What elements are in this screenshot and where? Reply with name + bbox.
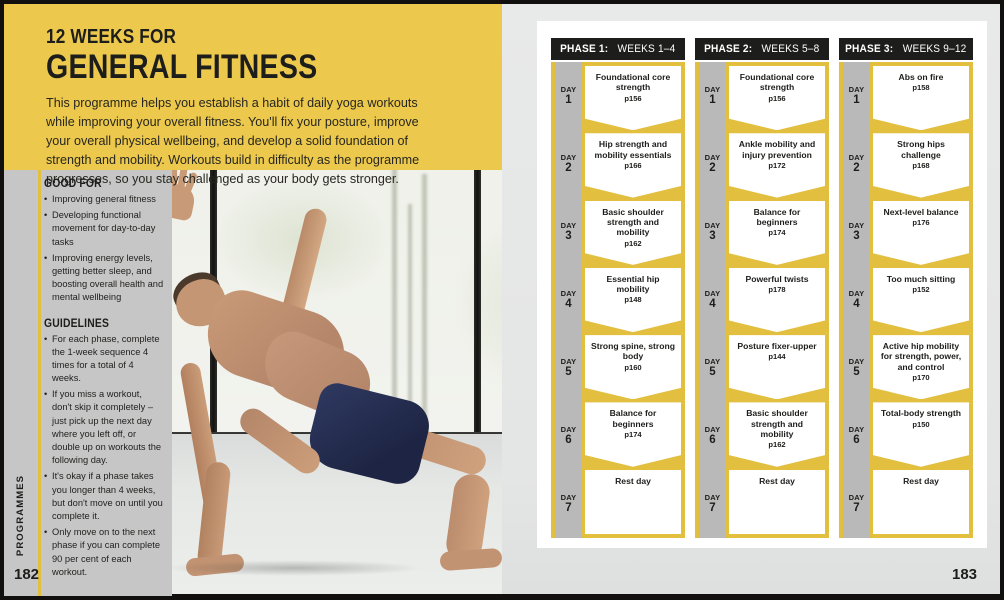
guideline-item: For each phase, complete the 1-week sequ… <box>44 333 164 386</box>
page-number-left: 182 <box>14 566 39 583</box>
workout-page-ref[interactable]: p174 <box>768 228 785 237</box>
workout-title: Essential hip mobility <box>590 274 676 295</box>
guidelines-heading: GUIDELINES <box>44 318 152 330</box>
workout-card[interactable]: Basic shoulder strength and mobilityp162 <box>729 402 825 466</box>
day-word: DAY <box>561 86 577 94</box>
day-cell: DAY6 <box>555 402 582 470</box>
day-cell: DAY2 <box>699 130 726 198</box>
eyebrow-text: 12 WEEKS FOR <box>46 26 409 49</box>
day-word: DAY <box>705 426 721 434</box>
day-cell: DAY5 <box>699 334 726 402</box>
day-word: DAY <box>705 494 721 502</box>
day-number: 4 <box>853 299 859 311</box>
day-number: 4 <box>565 299 571 311</box>
day-number: 5 <box>853 367 859 379</box>
workout-page-ref[interactable]: p144 <box>768 352 785 361</box>
day-number: 1 <box>709 95 715 107</box>
section-tab-text: PROGRAMMES <box>16 474 27 555</box>
day-number: 3 <box>853 231 859 243</box>
workout-page-ref[interactable]: p168 <box>912 161 929 170</box>
workout-title: Abs on fire <box>899 72 944 82</box>
good-for-item: Developing functional movement for day-t… <box>44 209 164 249</box>
phase-label: PHASE 2: <box>704 43 752 55</box>
phase-week-grid: DAY1DAY2DAY3DAY4DAY5DAY6DAY7Foundational… <box>551 62 685 538</box>
workout-title: Powerful twists <box>745 274 808 284</box>
day-word: DAY <box>561 154 577 162</box>
workout-page-ref[interactable]: p156 <box>624 94 641 103</box>
day-number-column: DAY1DAY2DAY3DAY4DAY5DAY6DAY7 <box>551 62 582 538</box>
intro-block: 12 WEEKS FOR GENERAL FITNESS This progra… <box>4 4 502 170</box>
day-number-column: DAY1DAY2DAY3DAY4DAY5DAY6DAY7 <box>839 62 870 538</box>
book-spread: 12 WEEKS FOR GENERAL FITNESS This progra… <box>0 0 1004 600</box>
phase-label: PHASE 3: <box>845 43 893 55</box>
day-cell: DAY3 <box>555 198 582 266</box>
day-cell: DAY5 <box>555 334 582 402</box>
workout-page-ref[interactable]: p166 <box>624 161 641 170</box>
day-word: DAY <box>849 358 865 366</box>
workout-card[interactable]: Balance for beginnersp174 <box>585 402 681 466</box>
workout-card-column: Foundational core strengthp156Ankle mobi… <box>726 62 829 538</box>
guideline-item: Only move on to the next phase if you ca… <box>44 526 164 579</box>
workout-title: Rest day <box>615 476 651 486</box>
day-number: 7 <box>565 503 571 515</box>
workout-card-column: Foundational core strengthp156Hip streng… <box>582 62 685 538</box>
workout-card[interactable]: Strong hips challengep168 <box>873 133 969 197</box>
day-word: DAY <box>849 222 865 230</box>
sidebar-content: GOOD FOR Improving general fitness Devel… <box>44 178 164 579</box>
workout-card[interactable]: Hip strength and mobility essentialsp166 <box>585 133 681 197</box>
day-word: DAY <box>705 86 721 94</box>
day-number: 4 <box>709 299 715 311</box>
day-cell: DAY4 <box>555 266 582 334</box>
workout-title: Strong hips challenge <box>878 139 964 160</box>
day-number: 6 <box>565 435 571 447</box>
day-cell: DAY6 <box>699 402 726 470</box>
phase-weeks-label: WEEKS 1–4 <box>617 43 675 55</box>
workout-page-ref[interactable]: p148 <box>624 295 641 304</box>
phase-label: PHASE 1: <box>560 43 608 55</box>
day-word: DAY <box>561 290 577 298</box>
good-for-heading: GOOD FOR <box>44 178 152 190</box>
day-number-column: DAY1DAY2DAY3DAY4DAY5DAY6DAY7 <box>695 62 726 538</box>
day-word: DAY <box>561 426 577 434</box>
day-word: DAY <box>705 290 721 298</box>
workout-title: Basic shoulder strength and mobility <box>734 408 820 439</box>
workout-title: Hip strength and mobility essentials <box>590 139 676 160</box>
day-cell: DAY1 <box>555 62 582 130</box>
day-word: DAY <box>705 222 721 230</box>
right-foot <box>439 548 502 571</box>
workout-title: Strong spine, strong body <box>590 341 676 362</box>
workout-title: Too much sitting <box>887 274 956 284</box>
workout-title: Foundational core strength <box>734 72 820 93</box>
yoga-figure <box>154 184 554 584</box>
day-word: DAY <box>561 494 577 502</box>
day-cell: DAY7 <box>555 470 582 538</box>
workout-card[interactable]: Balance for beginnersp174 <box>729 201 825 265</box>
intro-paragraph: This programme helps you establish a hab… <box>46 94 430 190</box>
workout-title: Total-body strength <box>881 408 961 418</box>
workout-card[interactable]: Basic shoulder strength and mobilityp162 <box>585 201 681 265</box>
day-number: 1 <box>853 95 859 107</box>
phase-week-grid: DAY1DAY2DAY3DAY4DAY5DAY6DAY7Abs on firep… <box>839 62 973 538</box>
workout-page-ref[interactable]: p170 <box>912 373 929 382</box>
good-for-item: Improving energy levels, getting better … <box>44 252 164 305</box>
phase-column-3: PHASE 3:WEEKS 9–12DAY1DAY2DAY3DAY4DAY5DA… <box>839 38 973 538</box>
workout-title: Balance for beginners <box>590 408 676 429</box>
floor-shadow <box>164 560 424 576</box>
good-for-item: Improving general fitness <box>44 193 164 206</box>
phase-column-2: PHASE 2:WEEKS 5–8DAY1DAY2DAY3DAY4DAY5DAY… <box>695 38 829 538</box>
day-cell: DAY1 <box>843 62 870 130</box>
workout-title: Ankle mobility and injury prevention <box>734 139 820 160</box>
workout-card[interactable]: Strong spine, strong bodyp160 <box>585 335 681 399</box>
page-title: GENERAL FITNESS <box>46 50 400 85</box>
workout-title: Rest day <box>759 476 795 486</box>
day-cell: DAY5 <box>843 334 870 402</box>
workout-title: Foundational core strength <box>590 72 676 93</box>
day-word: DAY <box>849 290 865 298</box>
day-cell: DAY2 <box>555 130 582 198</box>
workout-page-ref[interactable]: p152 <box>912 285 929 294</box>
day-cell: DAY3 <box>843 198 870 266</box>
day-word: DAY <box>849 426 865 434</box>
workout-page-ref[interactable]: p158 <box>912 83 929 92</box>
workout-title: Posture fixer-upper <box>737 341 816 351</box>
programme-table-panel: PHASE 1:WEEKS 1–4DAY1DAY2DAY3DAY4DAY5DAY… <box>537 21 987 548</box>
day-number: 2 <box>853 163 859 175</box>
phase-weeks-label: WEEKS 9–12 <box>902 43 966 55</box>
day-number: 1 <box>565 95 571 107</box>
workout-card[interactable]: Active hip mobility for strength, power,… <box>873 335 969 399</box>
day-cell: DAY4 <box>699 266 726 334</box>
day-number: 7 <box>709 503 715 515</box>
workout-title: Balance for beginners <box>734 207 820 228</box>
phase-week-grid: DAY1DAY2DAY3DAY4DAY5DAY6DAY7Foundational… <box>695 62 829 538</box>
workout-page-ref[interactable]: p174 <box>624 430 641 439</box>
workout-title: Active hip mobility for strength, power,… <box>878 341 964 372</box>
section-tab-label: PROGRAMMES <box>6 465 36 565</box>
day-cell: DAY2 <box>843 130 870 198</box>
workout-page-ref[interactable]: p162 <box>768 440 785 449</box>
workout-card[interactable]: Foundational core strengthp156 <box>585 66 681 130</box>
day-cell: DAY7 <box>843 470 870 538</box>
phase-header-1: PHASE 1:WEEKS 1–4 <box>551 38 685 60</box>
day-number: 3 <box>709 231 715 243</box>
day-number: 6 <box>853 435 859 447</box>
day-word: DAY <box>849 154 865 162</box>
sidebar-yellow-rule <box>38 170 41 596</box>
workout-card[interactable]: Essential hip mobilityp148 <box>585 268 681 332</box>
workout-page-ref[interactable]: p150 <box>912 420 929 429</box>
phase-weeks-label: WEEKS 5–8 <box>761 43 819 55</box>
workout-card[interactable]: Posture fixer-upperp144 <box>729 335 825 399</box>
day-cell: DAY3 <box>699 198 726 266</box>
workout-card[interactable]: Rest day <box>585 470 681 534</box>
guideline-item: If you miss a workout, don't skip it com… <box>44 388 164 467</box>
phase-header-2: PHASE 2:WEEKS 5–8 <box>695 38 829 60</box>
workout-title: Next-level balance <box>884 207 959 217</box>
day-word: DAY <box>705 358 721 366</box>
day-number: 3 <box>565 231 571 243</box>
workout-card[interactable]: Next-level balancep176 <box>873 201 969 265</box>
day-word: DAY <box>849 86 865 94</box>
workout-card[interactable]: Too much sittingp152 <box>873 268 969 332</box>
day-cell: DAY7 <box>699 470 726 538</box>
workout-page-ref[interactable]: p176 <box>912 218 929 227</box>
day-word: DAY <box>561 358 577 366</box>
day-number: 7 <box>853 503 859 515</box>
workout-card-column: Abs on firep158Strong hips challengep168… <box>870 62 973 538</box>
workout-page-ref[interactable]: p156 <box>768 94 785 103</box>
page-number-right: 183 <box>952 566 977 583</box>
workout-title: Rest day <box>903 476 939 486</box>
workout-page-ref[interactable]: p178 <box>768 285 785 294</box>
day-cell: DAY6 <box>843 402 870 470</box>
day-word: DAY <box>849 494 865 502</box>
workout-page-ref[interactable]: p162 <box>624 239 641 248</box>
day-number: 2 <box>709 163 715 175</box>
workout-title: Basic shoulder strength and mobility <box>590 207 676 238</box>
phase-header-3: PHASE 3:WEEKS 9–12 <box>839 38 973 60</box>
workout-card[interactable]: Abs on firep158 <box>873 66 969 130</box>
workout-card[interactable]: Rest day <box>873 470 969 534</box>
day-word: DAY <box>561 222 577 230</box>
workout-card[interactable]: Rest day <box>729 470 825 534</box>
day-number: 5 <box>709 367 715 379</box>
phase-columns: PHASE 1:WEEKS 1–4DAY1DAY2DAY3DAY4DAY5DAY… <box>551 38 973 538</box>
day-word: DAY <box>705 154 721 162</box>
day-number: 6 <box>709 435 715 447</box>
guideline-item: It's okay if a phase takes you longer th… <box>44 470 164 523</box>
workout-card[interactable]: Powerful twistsp178 <box>729 268 825 332</box>
workout-card[interactable]: Foundational core strengthp156 <box>729 66 825 130</box>
shorts <box>304 379 435 488</box>
day-cell: DAY4 <box>843 266 870 334</box>
workout-page-ref[interactable]: p160 <box>624 363 641 372</box>
phase-column-1: PHASE 1:WEEKS 1–4DAY1DAY2DAY3DAY4DAY5DAY… <box>551 38 685 538</box>
workout-page-ref[interactable]: p172 <box>768 161 785 170</box>
workout-card[interactable]: Ankle mobility and injury preventionp172 <box>729 133 825 197</box>
workout-card[interactable]: Total-body strengthp150 <box>873 402 969 466</box>
day-cell: DAY1 <box>699 62 726 130</box>
day-number: 5 <box>565 367 571 379</box>
day-number: 2 <box>565 163 571 175</box>
